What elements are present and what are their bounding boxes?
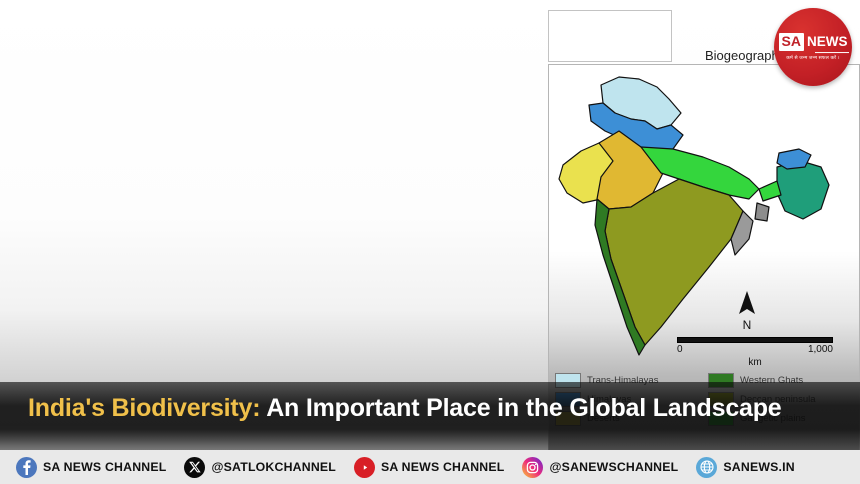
social-label: SA NEWS CHANNEL [43,460,166,474]
layer-letter: b [223,164,228,174]
theme-icon-strip [10,163,50,258]
threat-letter: e [187,297,192,307]
brace-biodiversity [271,253,347,258]
layer-letter: e [159,164,164,174]
scale-min: 0 [677,344,683,355]
map-stub-card [548,10,672,62]
x-twitter-icon [184,457,205,478]
youtube-icon [354,457,375,478]
north-arrow: N [725,290,769,332]
social-item-youtube[interactable]: SA NEWS CHANNEL [354,457,504,478]
threat-letter: f [211,297,213,307]
threats-icon-strip [10,288,50,346]
group-label-ecosystem: Ecosystem services [177,260,270,272]
flow-node-identifying-themes[interactable]: Identifying themes [12,9,129,34]
layer-letter: c [119,164,123,174]
layer-letter: c [245,164,249,174]
scale-unit: km [748,357,761,368]
title-rest: An Important Place in the Global Landsca… [266,394,781,422]
threat-letter: b [115,297,120,307]
layer-thumb[interactable] [319,178,345,243]
social-item-facebook[interactable]: SA NEWS CHANNEL [16,457,166,478]
logo-tagline: कर्म से जन्म जन्म सफल करें । [777,55,849,61]
threat-letter: i [283,297,285,307]
group-label-habitats: Habitats [91,260,130,272]
flow-node-themes-input-data[interactable]: Themes | input data [162,134,292,159]
layer-letter: a [201,164,206,174]
habitats-thumb-row [63,179,173,241]
layer-thumb[interactable] [151,178,177,243]
layer-letter: a [75,164,80,174]
threat-thumb[interactable] [283,310,309,375]
north-label: N [725,318,769,332]
layer-letter: c [327,164,331,174]
flow-node-shortlisting[interactable]: Shortlisting input data [158,56,294,81]
social-label: @SATLOKCHANNEL [211,460,336,474]
social-item-x[interactable]: @SATLOKCHANNEL [184,457,336,478]
north-arrow-icon [738,290,756,318]
layer-letter: a [283,164,288,174]
layer-thumb[interactable] [233,178,259,243]
layer-letter: b [98,164,103,174]
logo-sa-text: SA [779,33,804,51]
scale-max: 1,000 [808,344,833,355]
india-map[interactable] [553,69,853,369]
social-item-website[interactable]: SANEWS.IN [696,457,795,478]
logo-divider [815,52,849,53]
threat-letter: j [307,297,309,307]
threat-letter: d [163,297,168,307]
social-bar: SA NEWS CHANNEL @SATLOKCHANNEL SA NEWS C… [0,450,860,484]
threat-letter: c [139,297,143,307]
facebook-icon [16,457,37,478]
group-label-biodiversity: Biodiversity [277,260,331,272]
threat-letter: g [235,297,240,307]
map-scale-bar: 0 1,000 km [677,337,833,343]
instagram-icon [522,457,543,478]
input-layers-panel: Habitats Ecosystem services Biodiversity… [48,160,403,380]
social-label: SANEWS.IN [723,460,795,474]
threat-letter: h [259,297,264,307]
social-item-instagram[interactable]: @SANEWSCHANNEL [522,457,678,478]
globe-icon [696,457,717,478]
threat-letter: k [341,297,345,307]
threat-letter: a [91,297,96,307]
biodiversity-thumb-row [275,179,341,241]
page-title: India's Biodiversity: An Important Place… [28,394,782,423]
sa-news-logo[interactable]: SA NEWS कर्म से जन्म जन्म सफल करें । [774,8,852,86]
flow-node-feasibility[interactable]: Feasibility/quality check [155,92,302,117]
title-highlight: India's Biodiversity: [28,394,260,422]
threats-thumb-row [63,311,305,373]
layer-letter: d [138,164,143,174]
screenshot-root: Identifying themes Identifying spatial u… [0,0,860,484]
logo-news-text: NEWS [807,34,848,50]
layer-letter: b [305,164,310,174]
flow-node-identifying-spatial[interactable]: Identifying spatial units [305,9,447,34]
ecosystem-thumb-row [189,179,255,241]
brace-ecosystem [187,253,265,258]
brace-habitats [63,253,171,258]
social-label: @SANEWSCHANNEL [549,460,678,474]
social-label: SA NEWS CHANNEL [381,460,504,474]
group-label-threats: Threats [191,279,228,291]
